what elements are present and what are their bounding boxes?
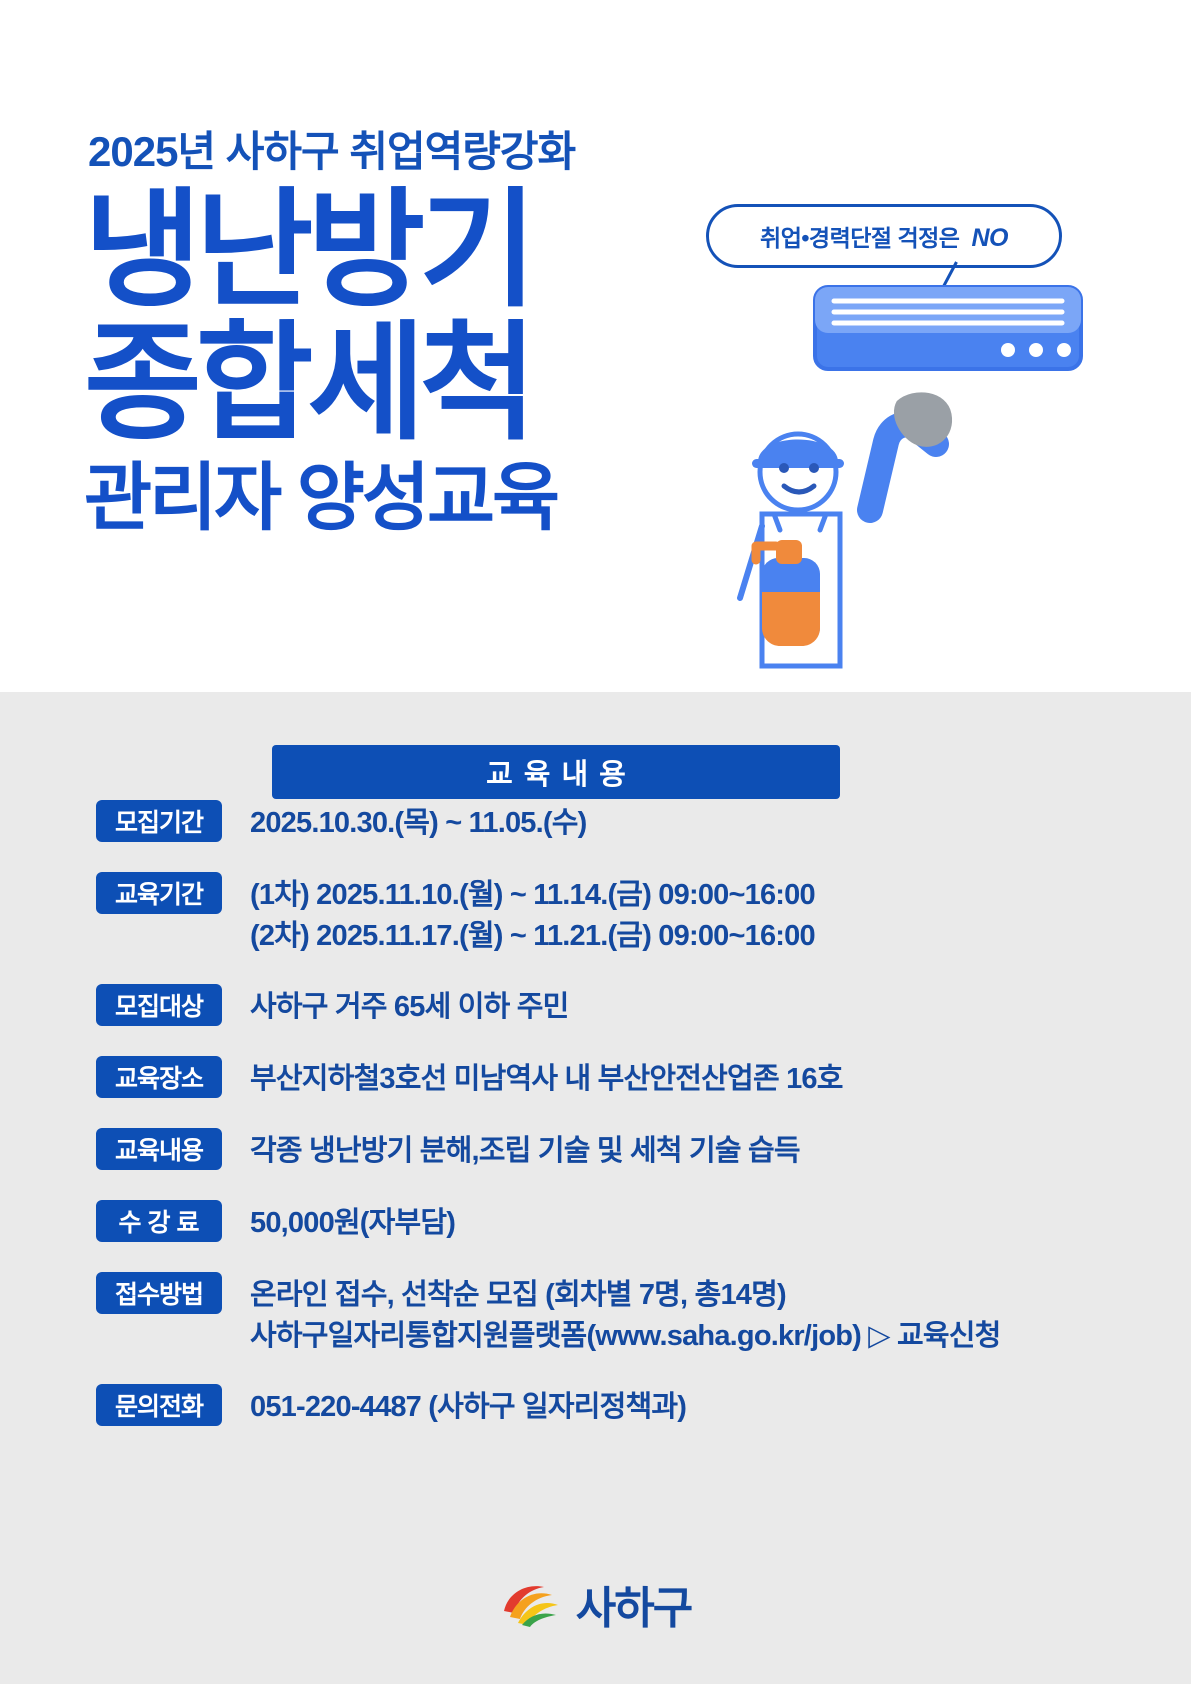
title-block: 냉난방기 종합세척 관리자 양성교육 (84, 190, 557, 533)
info-row: 수강료50,000원(자부담) (96, 1200, 455, 1244)
info-row-value-line: 부산지하철3호선 미남역사 내 부산안전산업존 16호 (250, 1059, 843, 1100)
info-row-value-line: 50,000원(자부담) (250, 1203, 455, 1244)
info-row-value-line: (2차) 2025.11.17.(월) ~ 11.21.(금) 09:00~16… (250, 916, 815, 957)
info-row: 모집기간2025.10.30.(목) ~ 11.05.(수) (96, 800, 586, 844)
speech-bubble-text: 취업•경력단절 걱정은NO (760, 219, 1008, 253)
saha-gu-logo-icon (500, 1581, 562, 1627)
info-row-label: 교육내용 (96, 1128, 222, 1170)
info-row-value-line: 2025.10.30.(목) ~ 11.05.(수) (250, 803, 586, 844)
section-banner: 교육내용 (272, 745, 840, 799)
info-row-label: 접수방법 (96, 1272, 222, 1314)
speech-bubble: 취업•경력단절 걱정은NO (706, 204, 1062, 268)
info-row: 문의전화051-220-4487 (사하구 일자리정책과) (96, 1384, 686, 1428)
info-row-label: 교육장소 (96, 1056, 222, 1098)
info-row-label: 모집대상 (96, 984, 222, 1026)
title-subtitle: 관리자 양성교육 (84, 462, 557, 533)
title-line-2: 종합세척 (84, 323, 557, 446)
info-row: 교육내용각종 냉난방기 분해,조립 기술 및 세척 기술 습득 (96, 1128, 800, 1172)
footer-logo-text: 사하구 (576, 1572, 691, 1636)
info-row: 모집대상사하구 거주 65세 이하 주민 (96, 984, 569, 1028)
info-row-value: 각종 냉난방기 분해,조립 기술 및 세척 기술 습득 (250, 1128, 800, 1172)
info-section: 교육내용 모집기간2025.10.30.(목) ~ 11.05.(수)교육기간(… (0, 692, 1191, 1684)
info-row: 교육장소부산지하철3호선 미남역사 내 부산안전산업존 16호 (96, 1056, 843, 1100)
info-row-value: 부산지하철3호선 미남역사 내 부산안전산업존 16호 (250, 1056, 843, 1100)
info-row-value: 온라인 접수, 선착순 모집 (회차별 7명, 총14명)사하구일자리통합지원플… (250, 1272, 1001, 1357)
title-line-1: 냉난방기 (84, 190, 557, 313)
info-row-value: 사하구 거주 65세 이하 주민 (250, 984, 569, 1028)
poster-root: 2025년 사하구 취업역량강화 냉난방기 종합세척 관리자 양성교육 취업•경… (0, 0, 1191, 1684)
footer: 사하구 (0, 1572, 1191, 1636)
info-row-label: 교육기간 (96, 872, 222, 914)
speech-bubble-main: 취업•경력단절 걱정은 (760, 225, 959, 251)
info-row-value-line: 051-220-4487 (사하구 일자리정책과) (250, 1387, 686, 1428)
info-row-value: 051-220-4487 (사하구 일자리정책과) (250, 1384, 686, 1428)
info-row-value-line: 각종 냉난방기 분해,조립 기술 및 세척 기술 습득 (250, 1131, 800, 1172)
info-row: 접수방법온라인 접수, 선착순 모집 (회차별 7명, 총14명)사하구일자리통… (96, 1272, 1001, 1357)
air-conditioner-icon (812, 284, 1084, 372)
info-row-label: 모집기간 (96, 800, 222, 842)
info-row-label: 문의전화 (96, 1384, 222, 1426)
info-row-value: 50,000원(자부담) (250, 1200, 455, 1244)
info-row-label: 수강료 (96, 1200, 222, 1242)
info-row-value-line: 사하구일자리통합지원플랫폼(www.saha.go.kr/job) ▷ 교육신청 (250, 1316, 1001, 1357)
info-row-value-line: (1차) 2025.11.10.(월) ~ 11.14.(금) 09:00~16… (250, 875, 815, 916)
worker-illustration-icon (700, 380, 1000, 680)
section-banner-title: 교육내용 (475, 751, 637, 793)
info-row: 교육기간(1차) 2025.11.10.(월) ~ 11.14.(금) 09:0… (96, 872, 815, 957)
hero-section: 2025년 사하구 취업역량강화 냉난방기 종합세척 관리자 양성교육 취업•경… (0, 0, 1191, 692)
speech-bubble-emphasis: NO (971, 224, 1008, 252)
info-row-value-line: 온라인 접수, 선착순 모집 (회차별 7명, 총14명) (250, 1275, 1001, 1316)
info-row-value: (1차) 2025.11.10.(월) ~ 11.14.(금) 09:00~16… (250, 872, 815, 957)
info-row-value-line: 사하구 거주 65세 이하 주민 (250, 987, 569, 1028)
info-row-value: 2025.10.30.(목) ~ 11.05.(수) (250, 800, 586, 844)
kicker-text: 2025년 사하구 취업역량강화 (88, 118, 575, 179)
